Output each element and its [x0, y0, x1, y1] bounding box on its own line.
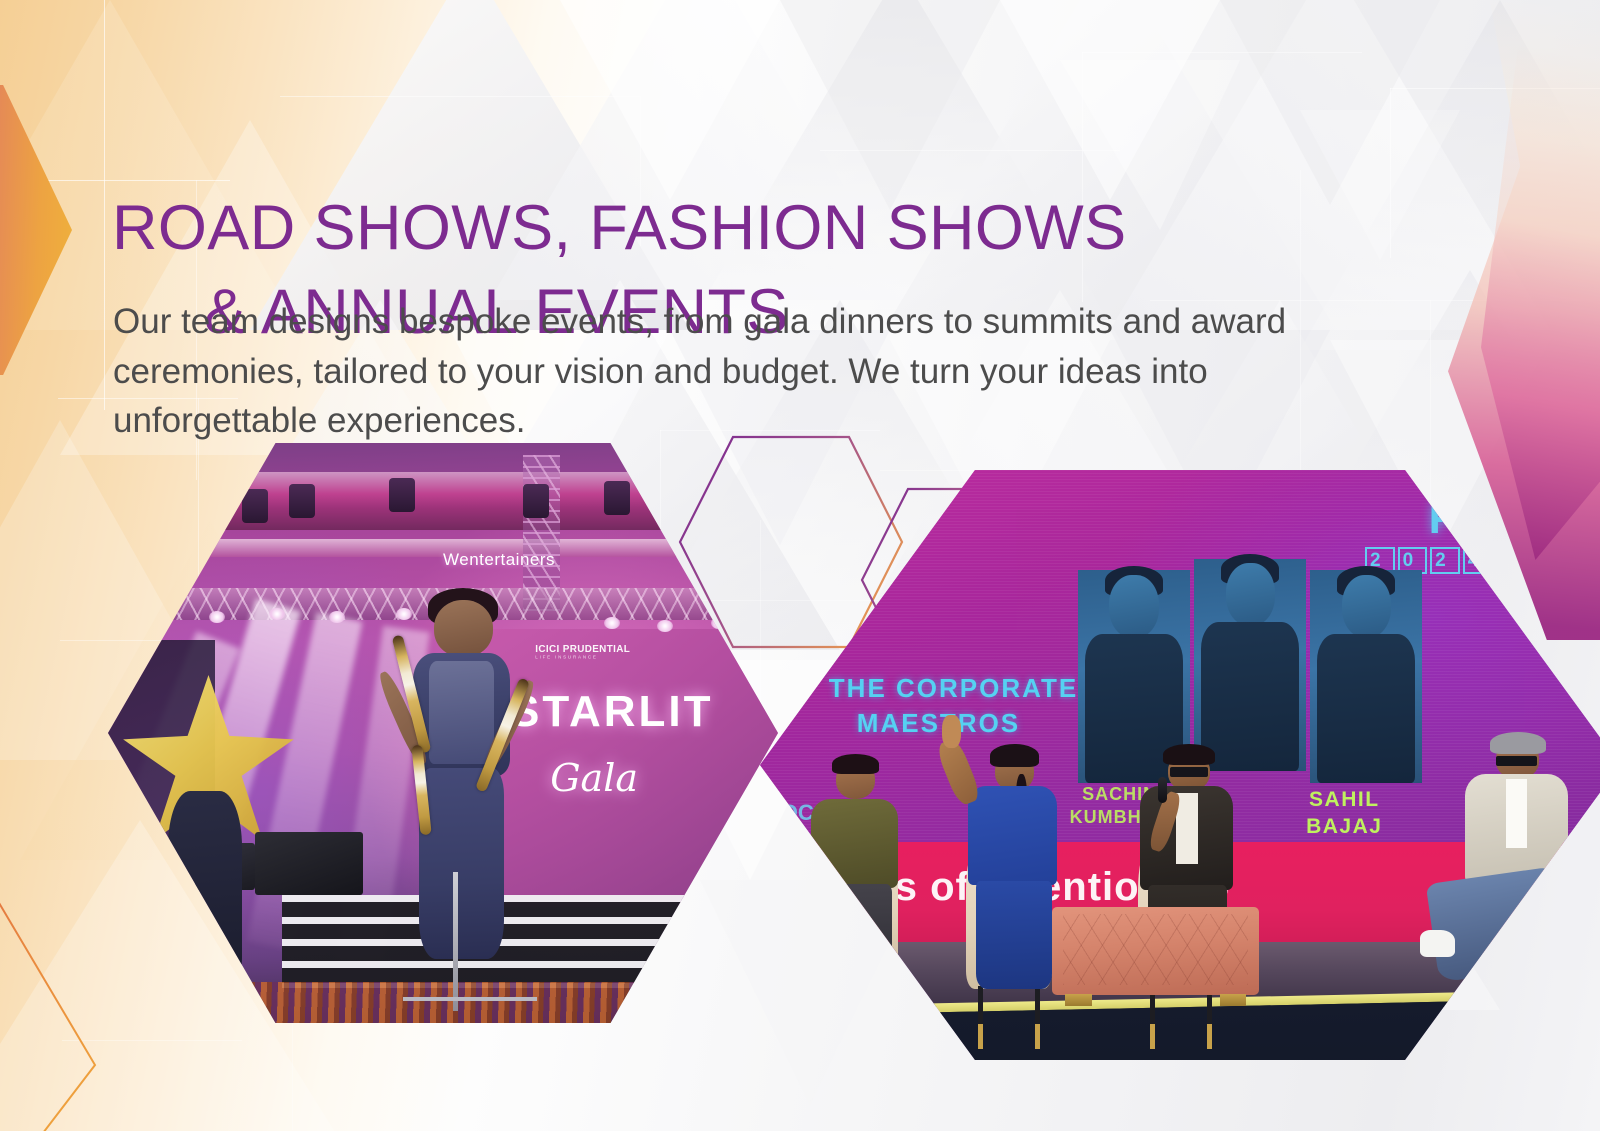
page-body-copy: Our team designs bespoke events, from ga… [113, 297, 1353, 446]
page-title-line-1: ROAD SHOWS, FASHION SHOWS [112, 193, 1127, 263]
photo-right-ottoman [1052, 907, 1258, 996]
photo-left-event-title: STARLIT [510, 687, 714, 737]
photo-left-performer [389, 600, 536, 983]
photo-left-event-subtitle: Gala [550, 756, 638, 800]
photo-right-screen-portrait-2 [1194, 559, 1306, 771]
photo-left-truss-label: Wentertainers [443, 550, 555, 570]
photo-right-speaker-2-name: SAHIL BAJAJ [1306, 786, 1382, 841]
photo-left-sponsor-logo: ICICI PRUDENTIAL LIFE INSURANCE [535, 644, 630, 660]
photo-right-panelist-2 [966, 753, 1061, 989]
slide-canvas: ROAD SHOWS, FASHION SHOWS & ANNUAL EVENT… [0, 0, 1600, 1131]
photo-right-screen-portrait-3 [1310, 570, 1422, 782]
